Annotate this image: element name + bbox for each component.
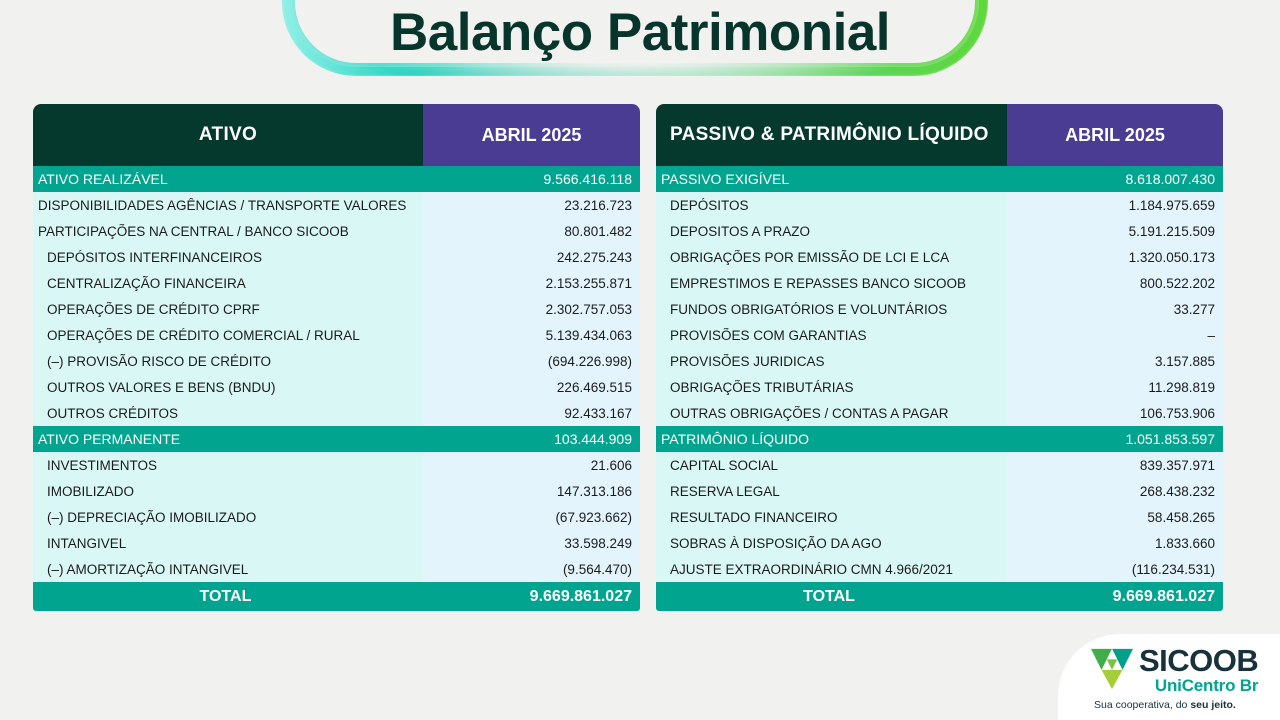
row-label: OPERAÇÕES DE CRÉDITO CPRF <box>33 302 423 317</box>
table-row: DEPÓSITOS1.184.975.659 <box>656 192 1223 218</box>
table-row: IMOBILIZADO147.313.186 <box>33 478 640 504</box>
table-section-row: ATIVO REALIZÁVEL9.566.416.118 <box>33 166 640 192</box>
row-value: 1.833.660 <box>1007 536 1223 551</box>
row-label: OUTROS CRÉDITOS <box>33 406 423 421</box>
row-label: INTANGIVEL <box>33 536 423 551</box>
table-total-row: TOTAL9.669.861.027 <box>656 582 1223 611</box>
ativo-table: ATIVO ABRIL 2025 ATIVO REALIZÁVEL9.566.4… <box>33 104 640 611</box>
row-label: CAPITAL SOCIAL <box>656 458 1007 473</box>
table-row: OBRIGAÇÕES TRIBUTÁRIAS11.298.819 <box>656 374 1223 400</box>
row-label: EMPRESTIMOS E REPASSES BANCO SICOOB <box>656 276 1007 291</box>
table-section-row: PATRIMÔNIO LÍQUIDO1.051.853.597 <box>656 426 1223 452</box>
row-value: 58.458.265 <box>1007 510 1223 525</box>
row-value: 11.298.819 <box>1007 380 1223 395</box>
row-label: OBRIGAÇÕES POR EMISSÃO DE LCI E LCA <box>656 250 1007 265</box>
row-label: (–) PROVISÃO RISCO DE CRÉDITO <box>33 354 423 369</box>
table-row: INTANGIVEL33.598.249 <box>33 530 640 556</box>
table-row: OBRIGAÇÕES POR EMISSÃO DE LCI E LCA1.320… <box>656 244 1223 270</box>
table-row: RESULTADO FINANCEIRO58.458.265 <box>656 504 1223 530</box>
row-label: RESERVA LEGAL <box>656 484 1007 499</box>
row-label: INVESTIMENTOS <box>33 458 423 473</box>
table-row: OPERAÇÕES DE CRÉDITO COMERCIAL / RURAL5.… <box>33 322 640 348</box>
row-label: PROVISÕES JURIDICAS <box>656 354 1007 369</box>
row-value: – <box>1007 328 1223 343</box>
row-label: DEPOSITOS A PRAZO <box>656 224 1007 239</box>
row-value: 33.598.249 <box>423 536 640 551</box>
row-value: 5.139.434.063 <box>423 328 640 343</box>
row-label: DISPONIBILIDADES AGÊNCIAS / TRANSPORTE V… <box>33 198 420 213</box>
row-label: CENTRALIZAÇÃO FINANCEIRA <box>33 276 423 291</box>
sicoob-brand-text: SICOOB <box>1139 646 1258 676</box>
ativo-table-header: ATIVO ABRIL 2025 <box>33 104 640 166</box>
row-label: OUTRAS OBRIGAÇÕES / CONTAS A PAGAR <box>656 406 1007 421</box>
table-row: INVESTIMENTOS21.606 <box>33 452 640 478</box>
row-label: AJUSTE EXTRAORDINÁRIO CMN 4.966/2021 <box>656 562 1007 577</box>
table-row: (–) AMORTIZAÇÃO INTANGIVEL(9.564.470) <box>33 556 640 582</box>
row-label: OPERAÇÕES DE CRÉDITO COMERCIAL / RURAL <box>33 328 423 343</box>
row-label: DEPÓSITOS <box>656 198 1007 213</box>
row-value: (694.226.998) <box>423 354 640 369</box>
table-row: CAPITAL SOCIAL839.357.971 <box>656 452 1223 478</box>
row-value: 2.302.757.053 <box>423 302 640 317</box>
ativo-header-title: ATIVO <box>33 104 423 166</box>
table-row: OPERAÇÕES DE CRÉDITO CPRF2.302.757.053 <box>33 296 640 322</box>
sicoob-tagline: Sua cooperativa, do seu jeito. <box>1094 699 1236 711</box>
table-section-row: ATIVO PERMANENTE103.444.909 <box>33 426 640 452</box>
sicoob-unit-text: UniCentro Br <box>1139 676 1258 695</box>
table-row: DISPONIBILIDADES AGÊNCIAS / TRANSPORTE V… <box>33 192 640 218</box>
row-value: 8.618.007.430 <box>1004 171 1223 187</box>
row-value: 80.801.482 <box>420 224 640 239</box>
row-label: PASSIVO EXIGÍVEL <box>656 171 1004 187</box>
row-value: 839.357.971 <box>1007 458 1223 473</box>
row-value: 92.433.167 <box>423 406 640 421</box>
row-value: 9.669.861.027 <box>418 588 640 606</box>
table-row: AJUSTE EXTRAORDINÁRIO CMN 4.966/2021(116… <box>656 556 1223 582</box>
row-value: 3.157.885 <box>1007 354 1223 369</box>
row-value: 1.051.853.597 <box>1004 431 1223 447</box>
row-label: (–) DEPRECIAÇÃO IMOBILIZADO <box>33 510 423 525</box>
table-row: FUNDOS OBRIGATÓRIOS E VOLUNTÁRIOS33.277 <box>656 296 1223 322</box>
passivo-table-header: PASSIVO & PATRIMÔNIO LÍQUIDO ABRIL 2025 <box>656 104 1223 166</box>
row-label: SOBRAS À DISPOSIÇÃO DA AGO <box>656 536 1007 551</box>
title-area: Balanço Patrimonial <box>0 0 1280 98</box>
row-value: 226.469.515 <box>423 380 640 395</box>
sicoob-triangle-icon <box>1090 648 1134 690</box>
row-label: (–) AMORTIZAÇÃO INTANGIVEL <box>33 562 423 577</box>
row-label: TOTAL <box>656 588 1002 606</box>
row-label: ATIVO PERMANENTE <box>33 431 420 447</box>
row-value: 147.313.186 <box>423 484 640 499</box>
row-value: (116.234.531) <box>1007 562 1223 577</box>
row-value: 23.216.723 <box>420 198 640 213</box>
row-value: 9.669.861.027 <box>1002 588 1223 606</box>
row-label: PARTICIPAÇÕES NA CENTRAL / BANCO SICOOB <box>33 224 420 239</box>
table-row: RESERVA LEGAL268.438.232 <box>656 478 1223 504</box>
passivo-table-body: PASSIVO EXIGÍVEL8.618.007.430DEPÓSITOS1.… <box>656 166 1223 611</box>
table-row: SOBRAS À DISPOSIÇÃO DA AGO1.833.660 <box>656 530 1223 556</box>
table-row: (–) PROVISÃO RISCO DE CRÉDITO(694.226.99… <box>33 348 640 374</box>
table-section-row: PASSIVO EXIGÍVEL8.618.007.430 <box>656 166 1223 192</box>
row-value: (9.564.470) <box>423 562 640 577</box>
table-row: PROVISÕES JURIDICAS3.157.885 <box>656 348 1223 374</box>
row-label: DEPÓSITOS INTERFINANCEIROS <box>33 250 423 265</box>
row-label: PROVISÕES COM GARANTIAS <box>656 328 1007 343</box>
row-value: 242.275.243 <box>423 250 640 265</box>
table-row: PROVISÕES COM GARANTIAS– <box>656 322 1223 348</box>
row-value: 5.191.215.509 <box>1007 224 1223 239</box>
passivo-header-title: PASSIVO & PATRIMÔNIO LÍQUIDO <box>656 104 1007 166</box>
table-row: DEPOSITOS A PRAZO5.191.215.509 <box>656 218 1223 244</box>
row-value: 1.320.050.173 <box>1007 250 1223 265</box>
row-label: OUTROS VALORES E BENS (BNDU) <box>33 380 423 395</box>
table-row: DEPÓSITOS INTERFINANCEIROS242.275.243 <box>33 244 640 270</box>
row-value: (67.923.662) <box>423 510 640 525</box>
table-row: OUTROS CRÉDITOS92.433.167 <box>33 400 640 426</box>
ativo-table-body: ATIVO REALIZÁVEL9.566.416.118DISPONIBILI… <box>33 166 640 611</box>
tagline-plain: Sua cooperativa, do <box>1094 699 1190 711</box>
row-value: 2.153.255.871 <box>423 276 640 291</box>
passivo-header-period: ABRIL 2025 <box>1007 104 1223 166</box>
table-row: CENTRALIZAÇÃO FINANCEIRA2.153.255.871 <box>33 270 640 296</box>
row-label: PATRIMÔNIO LÍQUIDO <box>656 431 1004 447</box>
row-label: RESULTADO FINANCEIRO <box>656 510 1007 525</box>
table-row: (–) DEPRECIAÇÃO IMOBILIZADO(67.923.662) <box>33 504 640 530</box>
row-value: 21.606 <box>423 458 640 473</box>
row-value: 268.438.232 <box>1007 484 1223 499</box>
table-row: OUTRAS OBRIGAÇÕES / CONTAS A PAGAR106.75… <box>656 400 1223 426</box>
page-title: Balanço Patrimonial <box>0 2 1280 64</box>
row-label: FUNDOS OBRIGATÓRIOS E VOLUNTÁRIOS <box>656 302 1007 317</box>
table-row: OUTROS VALORES E BENS (BNDU)226.469.515 <box>33 374 640 400</box>
row-value: 9.566.416.118 <box>420 171 640 187</box>
ativo-header-period: ABRIL 2025 <box>423 104 640 166</box>
row-value: 800.522.202 <box>1007 276 1223 291</box>
row-value: 33.277 <box>1007 302 1223 317</box>
table-row: PARTICIPAÇÕES NA CENTRAL / BANCO SICOOB8… <box>33 218 640 244</box>
table-total-row: TOTAL9.669.861.027 <box>33 582 640 611</box>
row-label: ATIVO REALIZÁVEL <box>33 171 420 187</box>
table-row: EMPRESTIMOS E REPASSES BANCO SICOOB800.5… <box>656 270 1223 296</box>
row-label: OBRIGAÇÕES TRIBUTÁRIAS <box>656 380 1007 395</box>
row-value: 1.184.975.659 <box>1007 198 1223 213</box>
row-value: 106.753.906 <box>1007 406 1223 421</box>
sicoob-logo: SICOOB UniCentro Br Sua cooperativa, do … <box>1058 634 1280 720</box>
row-label: IMOBILIZADO <box>33 484 423 499</box>
tagline-bold: seu jeito. <box>1190 699 1236 711</box>
row-value: 103.444.909 <box>420 431 640 447</box>
passivo-table: PASSIVO & PATRIMÔNIO LÍQUIDO ABRIL 2025 … <box>656 104 1223 611</box>
row-label: TOTAL <box>33 588 418 606</box>
